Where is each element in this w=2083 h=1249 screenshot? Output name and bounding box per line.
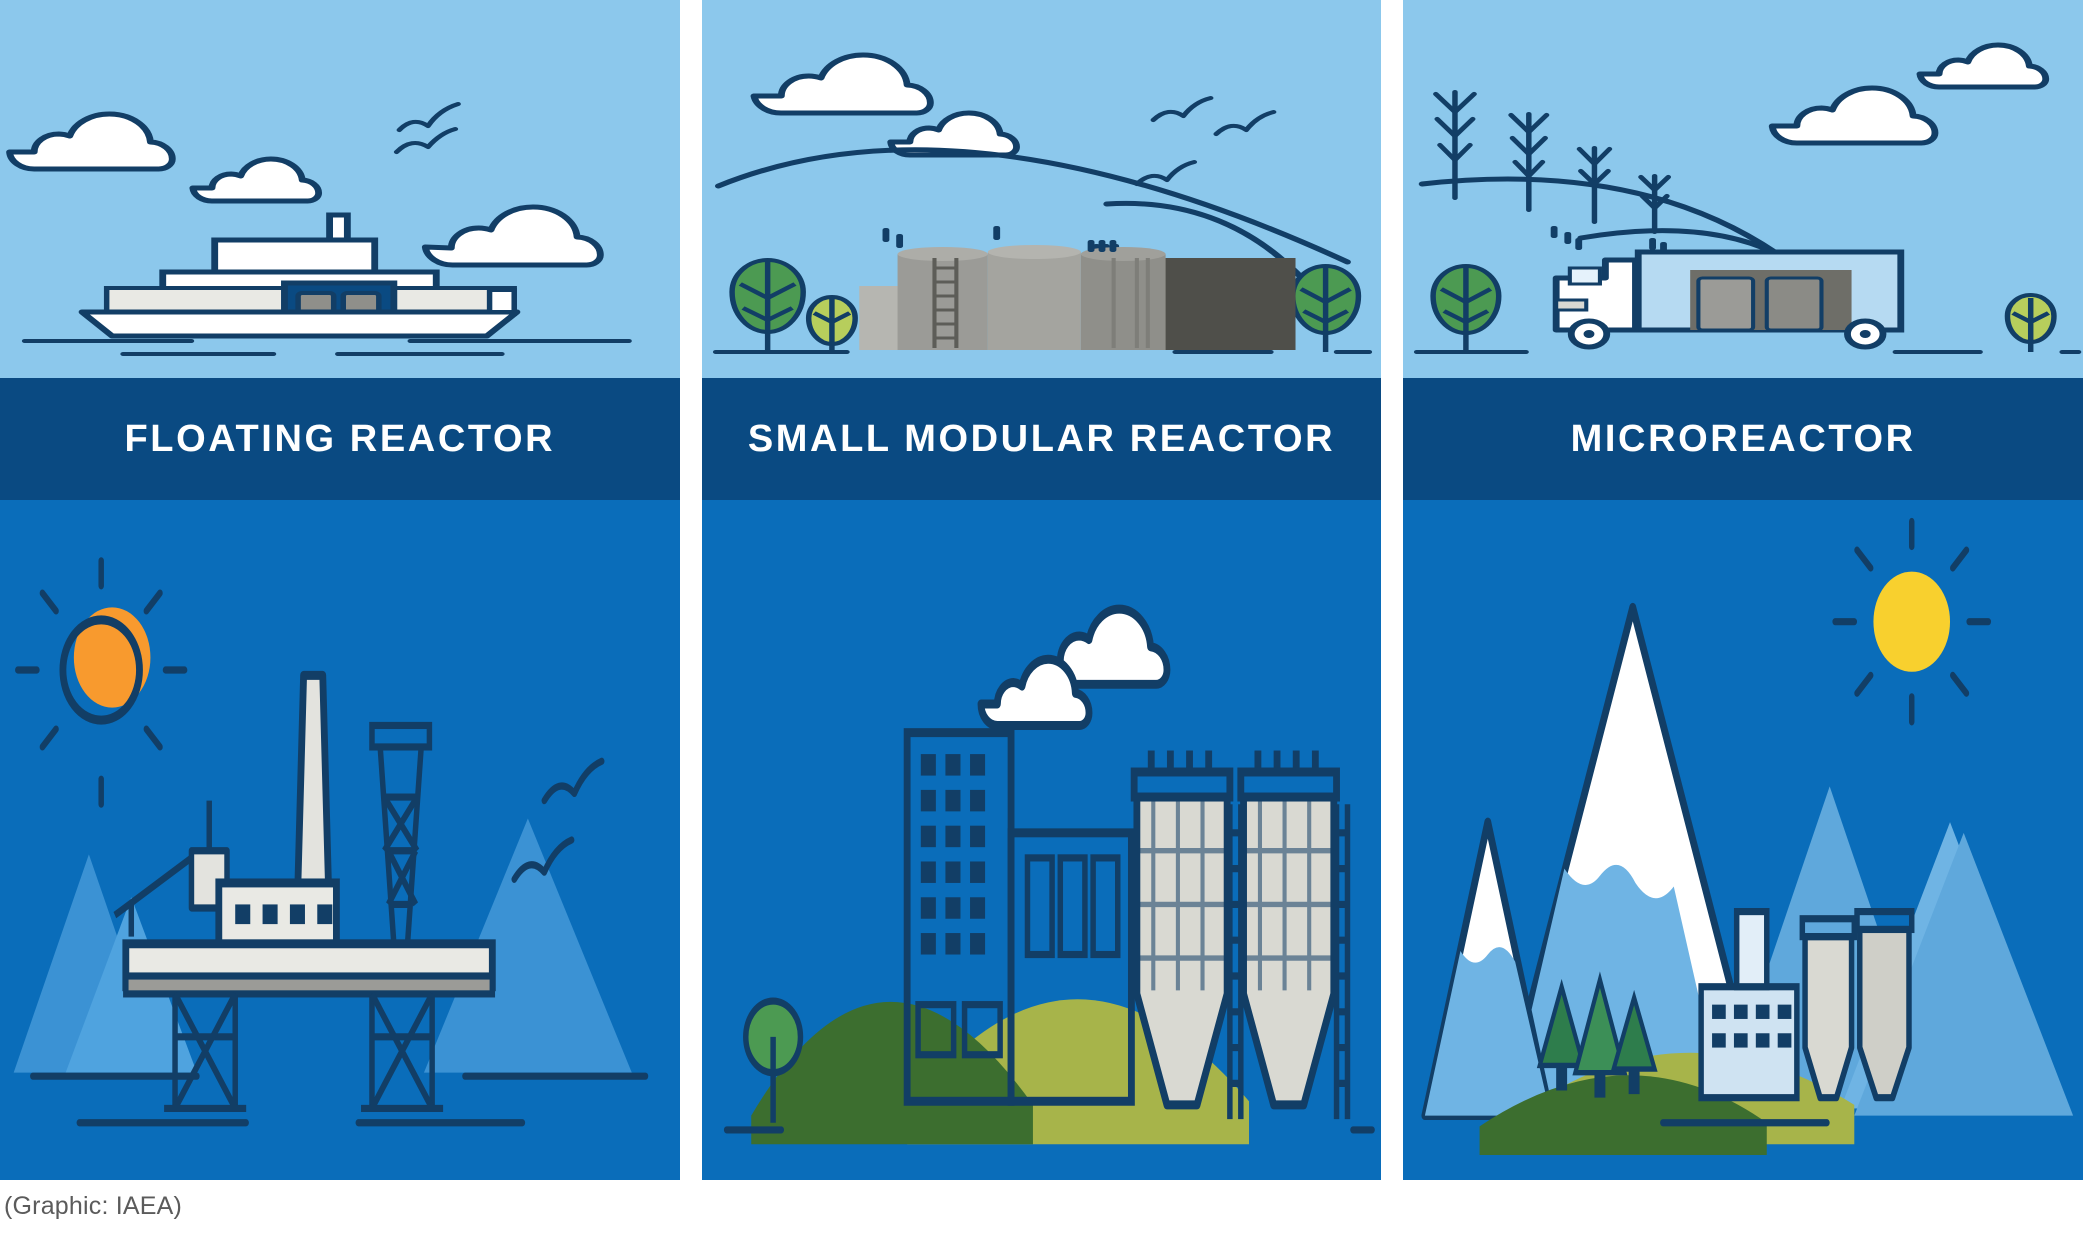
bird-icon [397, 129, 456, 152]
reactor-module [1767, 278, 1822, 330]
tree [1433, 266, 1499, 352]
ship-hull [82, 312, 517, 336]
tree [732, 260, 803, 350]
containment-block-right [1153, 258, 1295, 350]
waterline [33, 1076, 646, 1123]
cloud-icon [754, 55, 930, 113]
label-band-floating-reactor: FLOATING REACTOR [0, 378, 680, 500]
reactor-tank [1080, 254, 1165, 350]
bird-icon [1216, 112, 1273, 134]
scene-smr-plant-town [702, 500, 1382, 1180]
sun-icon [18, 561, 185, 804]
cloud-icon [425, 207, 600, 265]
cloud-icon [1773, 88, 1936, 143]
infographic-sheet: FLOATING REACTOR [0, 0, 2083, 1249]
cloud-icon [1920, 45, 2046, 87]
scene-floating-reactor-sea [0, 0, 680, 378]
panel-floating-reactor[interactable]: FLOATING REACTOR [0, 0, 680, 1180]
ladder [1336, 804, 1347, 1119]
reactor-silo [1240, 751, 1336, 1105]
bare-tree [1641, 176, 1668, 232]
panel-label: FLOATING REACTOR [124, 418, 555, 461]
cab-window [1570, 268, 1600, 284]
superstructure-upper [215, 240, 375, 274]
reactor-module [1699, 278, 1754, 330]
tree [808, 297, 854, 352]
scene-offshore-platform [0, 500, 680, 1180]
panel-row: FLOATING REACTOR [0, 0, 2083, 1180]
panel-label: MICROREACTOR [1571, 418, 1916, 461]
facility-tower [1737, 912, 1767, 987]
cloud-icon [10, 114, 173, 169]
panel-label: SMALL MODULAR REACTOR [748, 418, 1335, 461]
bird-icon [399, 104, 458, 130]
panel-microreactor[interactable]: MICROREACTOR [1403, 0, 2083, 1180]
waterline [25, 341, 629, 354]
label-band-microreactor: MICROREACTOR [1403, 378, 2083, 500]
bird-icon [1153, 98, 1210, 120]
ship-hull-group [82, 215, 517, 336]
reactor-tank-complex [859, 240, 1295, 350]
reactor-tank [987, 252, 1080, 350]
crane [115, 801, 227, 937]
tree [1292, 266, 1358, 352]
platform-legs [164, 994, 443, 1109]
cab-grille [1557, 300, 1587, 310]
silo [1857, 912, 1912, 1098]
cloud-icon [193, 159, 319, 201]
sun-icon [1835, 521, 1988, 721]
graphic-credit-caption: (Graphic: IAEA) [4, 1192, 182, 1221]
label-band-small-modular-reactor: SMALL MODULAR REACTOR [702, 378, 1382, 500]
truck-group [1557, 252, 1902, 347]
scene-microreactor-mountains [1403, 500, 2083, 1180]
ladder [1230, 804, 1241, 1119]
platform-deck-edge [126, 976, 493, 994]
derrick-tower [372, 725, 429, 943]
bird-icon [1137, 162, 1194, 184]
panel-small-modular-reactor[interactable]: SMALL MODULAR REACTOR [702, 0, 1382, 1180]
vent-pipes [1087, 240, 1116, 252]
scene-microreactor-truck [1403, 0, 2083, 378]
deck-window [490, 290, 515, 312]
bare-tree [1511, 114, 1547, 210]
silo [1803, 919, 1855, 1098]
scene-smr-tanks [702, 0, 1382, 378]
tree [2008, 295, 2054, 352]
